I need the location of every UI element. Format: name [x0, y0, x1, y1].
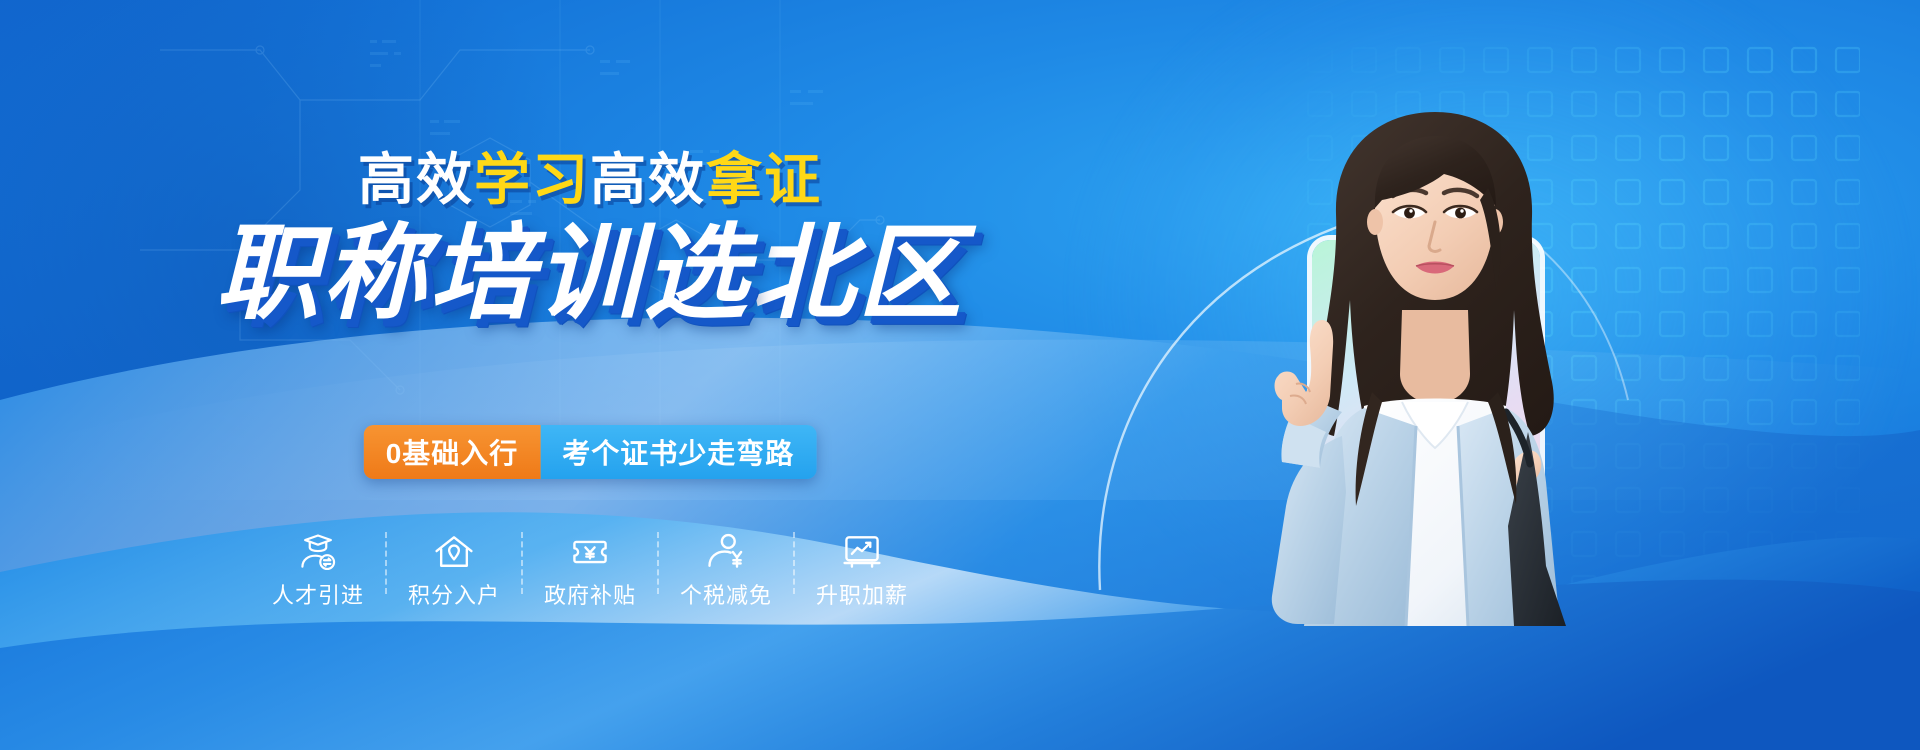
headline: 职称培训选北区 — [0, 222, 1180, 326]
subheadline: 高效学习高效拿证 — [0, 152, 1180, 208]
pill-certificate: 考个证书少走弯路 — [540, 425, 816, 479]
subheadline-part-2-highlight: 学习 — [474, 148, 590, 211]
graduate-person-icon — [296, 530, 340, 574]
feature-item-subsidy[interactable]: 政府补贴 — [523, 530, 657, 607]
headline-after-accent: 北区 — [751, 216, 965, 332]
feature-item-tax[interactable]: 个税减免 — [659, 530, 793, 607]
copy-block: 高效学习高效拿证 职称培训选北区 0基础入行 考个证书少走弯路 人才引进 — [0, 0, 1180, 750]
feature-item-talent[interactable]: 人才引进 — [251, 530, 385, 607]
headline-before-accent: 职称培训 — [215, 216, 643, 332]
feature-item-residency[interactable]: 积分入户 — [387, 530, 521, 607]
subheadline-part-1: 高效 — [358, 148, 474, 211]
subheadline-part-3: 高效 — [590, 148, 706, 211]
feature-item-promotion[interactable]: 升职加薪 — [795, 530, 929, 607]
house-pin-icon — [432, 530, 476, 574]
tagline-pill-bar: 0基础入行 考个证书少走弯路 — [364, 425, 817, 479]
feature-label-promotion: 升职加薪 — [816, 585, 908, 607]
subheadline-part-4-highlight: 拿证 — [706, 148, 822, 211]
chart-board-icon — [840, 530, 884, 574]
headline-accent-char: 选 — [643, 216, 750, 332]
feature-label-tax: 个税减免 — [680, 585, 772, 607]
feature-label-talent: 人才引进 — [272, 585, 364, 607]
headline-accent-char-wrap: 选 — [643, 222, 750, 326]
pill-zero-base: 0基础入行 — [364, 425, 541, 479]
feature-label-subsidy: 政府补贴 — [544, 585, 636, 607]
instructor-photo — [1230, 96, 1660, 626]
person-yuan-icon — [704, 530, 748, 574]
ticket-yuan-icon — [568, 530, 612, 574]
feature-label-residency: 积分入户 — [408, 585, 500, 607]
promo-banner: 高效学习高效拿证 职称培训选北区 0基础入行 考个证书少走弯路 人才引进 — [0, 0, 1920, 750]
feature-row: 人才引进 积分入户 — [251, 530, 929, 607]
